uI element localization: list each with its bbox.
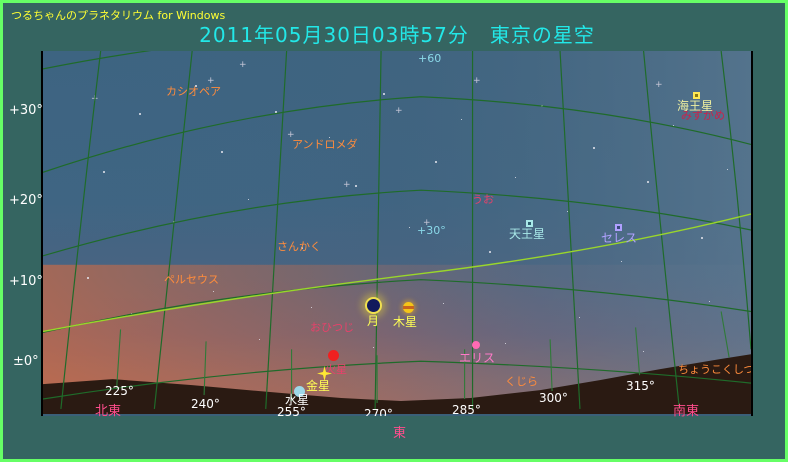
altitude-label-0: ±0° — [13, 354, 39, 369]
direction-label-northeast: 北東 — [95, 400, 121, 419]
altitude-label-20: +20° — [9, 193, 43, 208]
planetarium-window: つるちゃんのプラネタリウム for Windows 2011年05月30日03時… — [0, 0, 788, 462]
constellation-label-pisces: うお — [472, 194, 494, 205]
jupiter-marker[interactable] — [403, 302, 414, 313]
moon-marker[interactable] — [365, 297, 382, 314]
ceres-marker[interactable] — [615, 224, 622, 231]
eris-label: エリス — [459, 352, 495, 364]
azimuth-label-225: 225° — [105, 385, 134, 397]
eris-marker[interactable] — [472, 341, 480, 349]
azimuth-label-270: 270° — [364, 408, 393, 416]
altitude-label-30: +30° — [9, 103, 43, 118]
ceres-label: セレス — [601, 232, 637, 244]
sky-chart-panel[interactable]: + + + + + + + + + — [41, 51, 753, 416]
direction-label-southeast: 南東 — [673, 400, 699, 419]
uranus-marker[interactable] — [526, 220, 533, 227]
constellation-label-cassiopeia: カシオペア — [166, 86, 221, 97]
moon-label: 月 — [367, 315, 379, 327]
mars-marker[interactable] — [328, 350, 339, 361]
inner-dec-label-30: +30° — [417, 225, 446, 236]
inner-dec-label-60: +60 — [418, 53, 441, 64]
chart-title: 2011年05月30日03時57分 東京の星空 — [3, 19, 788, 48]
constellation-label-andromeda: アンドロメダ — [292, 139, 358, 150]
coordinate-grid — [43, 51, 751, 414]
uranus-label: 天王星 — [509, 228, 545, 240]
constellation-label-perseus: ペルセウス — [164, 274, 219, 285]
constellation-label-triangulum: さんかく — [277, 241, 321, 252]
azimuth-label-315: 315° — [626, 380, 655, 392]
altitude-label-10: +10° — [9, 274, 43, 289]
azimuth-label-300: 300° — [539, 392, 568, 404]
azimuth-label-285: 285° — [452, 404, 481, 416]
neptune-marker[interactable] — [693, 92, 700, 99]
constellation-label-aries: おひつじ — [310, 322, 354, 333]
constellation-label-sculptor: ちょうこくしつ — [678, 364, 753, 375]
azimuth-label-240: 240° — [191, 398, 220, 410]
azimuth-label-255: 255° — [277, 406, 306, 416]
direction-label-east: 東 — [393, 422, 406, 441]
neptune-label: 海王星 — [677, 100, 713, 112]
constellation-label-cetus: くじら — [505, 376, 538, 387]
venus-label: 金星 — [306, 380, 330, 392]
jupiter-label: 木星 — [393, 316, 417, 328]
